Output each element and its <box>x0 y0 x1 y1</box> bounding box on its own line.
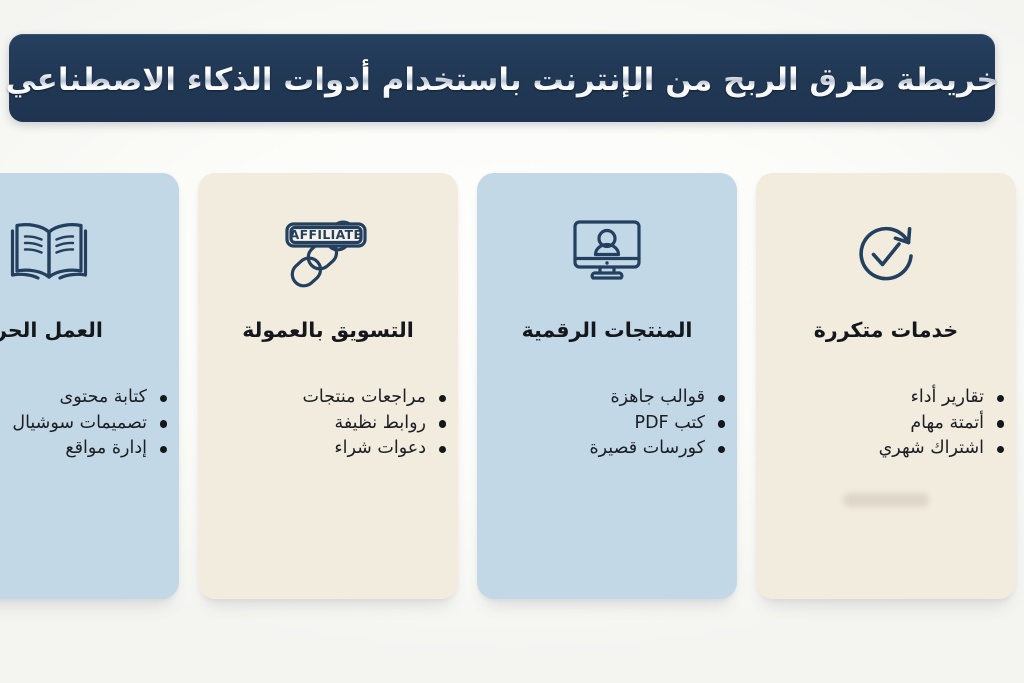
list-item: روابط نظيفة <box>208 411 448 437</box>
card-title: المنتجات الرقمية <box>477 317 737 343</box>
bullet-dot <box>439 446 447 454</box>
card-bullet-list: مراجعات منتجات روابط نظيفة دعوات شراء <box>208 385 448 462</box>
card-recurring-services[interactable]: خدمات متكررة تقارير أداء أتمتة مهام اشتر… <box>756 173 1016 599</box>
list-item-label: كتب PDF <box>635 413 705 433</box>
texture-smudge <box>843 493 929 507</box>
page-title-banner: خريطة طرق الربح من الإنترنت باستخدام أدو… <box>9 34 995 122</box>
affiliate-chain-icon: AFFILIATE <box>269 210 387 296</box>
list-item-label: مراجعات منتجات <box>302 387 426 407</box>
card-digital-products[interactable]: المنتجات الرقمية قوالب جاهزة كتب PDF كور… <box>477 173 737 599</box>
list-item: كتابة محتوى <box>0 385 169 411</box>
card-affiliate-marketing[interactable]: AFFILIATE التسويق بالعمولة مراجعات منتجا… <box>198 173 458 599</box>
list-item-label: دعوات شراء <box>334 438 426 458</box>
list-item-label: إدارة مواقع <box>65 438 147 458</box>
bullet-dot <box>718 420 726 428</box>
card-title: التسويق بالعمولة <box>198 317 458 343</box>
bullet-dot <box>718 395 726 403</box>
card-bullet-list: كتابة محتوى تصميمات سوشيال إدارة مواقع <box>0 385 169 462</box>
list-item-label: قوالب جاهزة <box>610 387 705 407</box>
bullet-dot <box>718 446 726 454</box>
list-item-label: روابط نظيفة <box>334 413 426 433</box>
bullet-dot <box>160 395 168 403</box>
list-item: مراجعات منتجات <box>208 385 448 411</box>
list-item-label: كورسات قصيرة <box>589 438 705 458</box>
page-title: خريطة طرق الربح من الإنترنت باستخدام أدو… <box>5 58 998 102</box>
bullet-dot <box>997 395 1005 403</box>
affiliate-label: AFFILIATE <box>290 227 363 242</box>
bullet-dot <box>439 420 447 428</box>
card-title: خدمات متكررة <box>756 317 1016 343</box>
list-item-label: كتابة محتوى <box>60 387 147 407</box>
card-freelancing[interactable]: العمل الحر كتابة محتوى تصميمات سوشيال إد… <box>0 173 179 599</box>
bullet-dot <box>997 446 1005 454</box>
list-item: قوالب جاهزة <box>487 385 727 411</box>
refresh-check-icon <box>827 210 945 296</box>
list-item: إدارة مواقع <box>0 436 169 462</box>
card-bullet-list: قوالب جاهزة كتب PDF كورسات قصيرة <box>487 385 727 462</box>
list-item: كورسات قصيرة <box>487 436 727 462</box>
card-row: خدمات متكررة تقارير أداء أتمتة مهام اشتر… <box>8 173 1016 599</box>
list-item: تقارير أداء <box>766 385 1006 411</box>
list-item: دعوات شراء <box>208 436 448 462</box>
list-item: اشتراك شهري <box>766 436 1006 462</box>
list-item-label: اشتراك شهري <box>879 438 984 458</box>
list-item-label: تقارير أداء <box>911 387 984 407</box>
bullet-dot <box>997 420 1005 428</box>
bullet-dot <box>439 395 447 403</box>
list-item: أتمتة مهام <box>766 411 1006 437</box>
card-title: العمل الحر <box>0 317 179 343</box>
card-bullet-list: تقارير أداء أتمتة مهام اشتراك شهري <box>766 385 1006 462</box>
list-item: كتب PDF <box>487 411 727 437</box>
open-book-icon <box>0 210 108 296</box>
list-item: تصميمات سوشيال <box>0 411 169 437</box>
list-item-label: أتمتة مهام <box>910 413 984 433</box>
list-item-label: تصميمات سوشيال <box>12 413 147 433</box>
bullet-dot <box>160 420 168 428</box>
monitor-user-icon <box>548 210 666 296</box>
bullet-dot <box>160 446 168 454</box>
